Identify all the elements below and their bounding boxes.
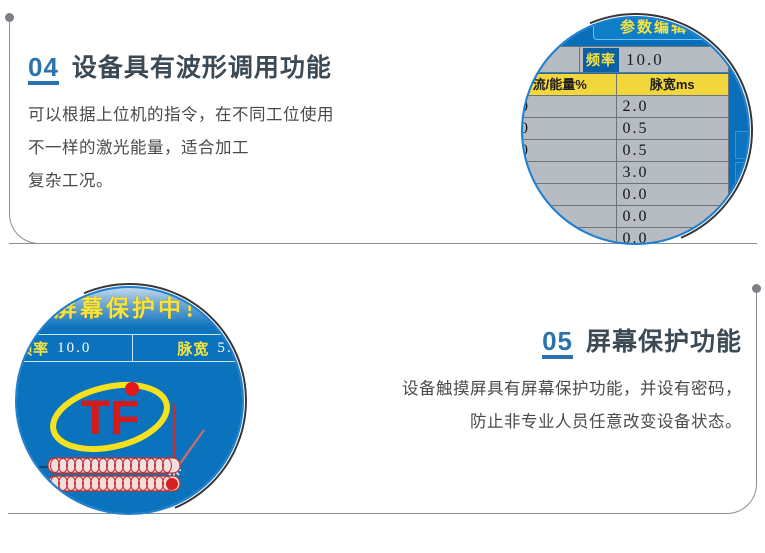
card-05-frame-dot <box>752 284 761 293</box>
cell-pulsewidth: 0.0 <box>617 228 729 243</box>
parameter-table[interactable]: 流/能量% 脉宽ms 70 2.0 70 0.5 30 0.5 30 3.0 <box>523 74 729 243</box>
keypad-key-4[interactable]: 4 <box>735 162 748 190</box>
card-divider <box>9 243 757 244</box>
card-04-frame-dot <box>5 13 14 22</box>
cell-pulsewidth: 0.5 <box>617 118 729 139</box>
keypad-key-7[interactable]: 7 <box>735 193 748 221</box>
cell-current: 0 <box>523 184 617 205</box>
column-header-current: 流/能量% <box>523 74 617 95</box>
table-row[interactable]: 70 2.0 <box>523 95 728 117</box>
hmi-title-button-secondary[interactable] <box>718 18 748 40</box>
card-05-headline: 05 屏幕保护功能 <box>330 322 742 359</box>
cell-current: 30 <box>523 140 617 161</box>
cell-pulsewidth: 3.0 <box>617 162 729 183</box>
table-row[interactable]: 30 0.5 <box>523 139 728 161</box>
table-row[interactable]: 70 0.5 <box>523 117 728 139</box>
screensaver-photo: 屏幕保护中！ 频率 10.0 脉宽 5.0 TF <box>17 288 242 513</box>
card-04-number: 04 <box>28 54 59 85</box>
parameter-table-header: 流/能量% 脉宽ms <box>523 74 728 95</box>
status-cell-frequency: 频率 10.0 <box>17 335 133 361</box>
card-04-text: 04 设备具有波形调用功能 可以根据上位机的指令，在不同工位使用 不一样的激光能… <box>28 48 448 198</box>
card-04-headline: 04 设备具有波形调用功能 <box>28 48 448 85</box>
frequency-field-spacer <box>523 47 580 72</box>
cell-current: 30 <box>523 162 617 183</box>
cell-pulsewidth: 0.0 <box>617 206 729 227</box>
numeric-keypad[interactable]: 1 4 7 <box>735 131 748 243</box>
screensaver-status-bar: 频率 10.0 脉宽 5.0 <box>17 334 242 362</box>
cell-current <box>523 228 617 243</box>
card-05-number: 05 <box>542 328 573 359</box>
table-row[interactable]: 30 3.0 <box>523 161 728 183</box>
cell-current: 70 <box>523 118 617 139</box>
waveform-chart: 100 50 0 5 <box>741 54 748 120</box>
page-root: 04 设备具有波形调用功能 可以根据上位机的指令，在不同工位使用 不一样的激光能… <box>0 0 765 528</box>
keypad-key-1[interactable]: 1 <box>735 131 748 159</box>
card-05-body-line-2: 防止非专业人员任意改变设备状态。 <box>330 406 742 439</box>
cell-current: 0 <box>523 206 617 227</box>
hmi-parameter-screen: 参数编辑 频率 10.0 流/能量% 脉宽ms 70 2.0 70 <box>523 18 748 243</box>
status-cell-pulsewidth: 脉宽 5.0 <box>133 335 243 361</box>
svg-text:50: 50 <box>744 83 748 90</box>
card-04-body-line-3: 复杂工况。 <box>28 165 448 198</box>
table-row[interactable]: 0 0.0 <box>523 205 728 227</box>
frequency-label: 频率 <box>583 48 619 72</box>
table-row[interactable]: 0 0.0 <box>523 183 728 205</box>
hmi-screensaver-screen: 屏幕保护中！ 频率 10.0 脉宽 5.0 TF <box>17 288 242 513</box>
cell-pulsewidth: 0.0 <box>617 184 729 205</box>
keypad-key-blank-1[interactable] <box>735 224 748 243</box>
card-04-title: 设备具有波形调用功能 <box>72 48 332 84</box>
frequency-field-row[interactable]: 频率 10.0 <box>523 46 729 73</box>
status-value-frequency: 10.0 <box>57 340 91 357</box>
hmi-title-button[interactable]: 参数编辑 <box>593 18 715 40</box>
cell-current: 70 <box>523 96 617 117</box>
cell-pulsewidth: 0.5 <box>617 140 729 161</box>
svg-text:TF: TF <box>81 392 140 445</box>
cell-pulsewidth: 2.0 <box>617 96 729 117</box>
parameter-editor-photo: 参数编辑 频率 10.0 流/能量% 脉宽ms 70 2.0 70 <box>523 18 748 243</box>
tf-laser-welding-graphic: TF <box>32 372 222 502</box>
screensaver-banner: 屏幕保护中！ <box>17 288 242 328</box>
card-05-text: 05 屏幕保护功能 设备触摸屏具有屏幕保护功能，并设有密码， 防止非专业人员任意… <box>330 322 742 439</box>
status-label-frequency: 频率 <box>17 338 49 359</box>
svg-text:100: 100 <box>741 63 748 70</box>
column-header-pulsewidth: 脉宽ms <box>617 74 729 95</box>
status-value-pulsewidth: 5.0 <box>217 340 242 357</box>
coil-workpiece-icon <box>48 458 180 491</box>
card-05-body-line-1: 设备触摸屏具有屏幕保护功能，并设有密码， <box>330 373 742 406</box>
keypad-column-1[interactable]: 1 4 7 <box>735 131 748 243</box>
status-label-pulsewidth: 脉宽 <box>177 338 209 359</box>
card-04-body-line-2: 不一样的激光能量，适合加工 <box>28 132 448 165</box>
frequency-value: 10.0 <box>626 50 664 70</box>
card-05-title: 屏幕保护功能 <box>586 322 742 358</box>
table-row[interactable]: 0.0 <box>523 227 728 243</box>
card-04-body-line-1: 可以根据上位机的指令，在不同工位使用 <box>28 99 448 132</box>
